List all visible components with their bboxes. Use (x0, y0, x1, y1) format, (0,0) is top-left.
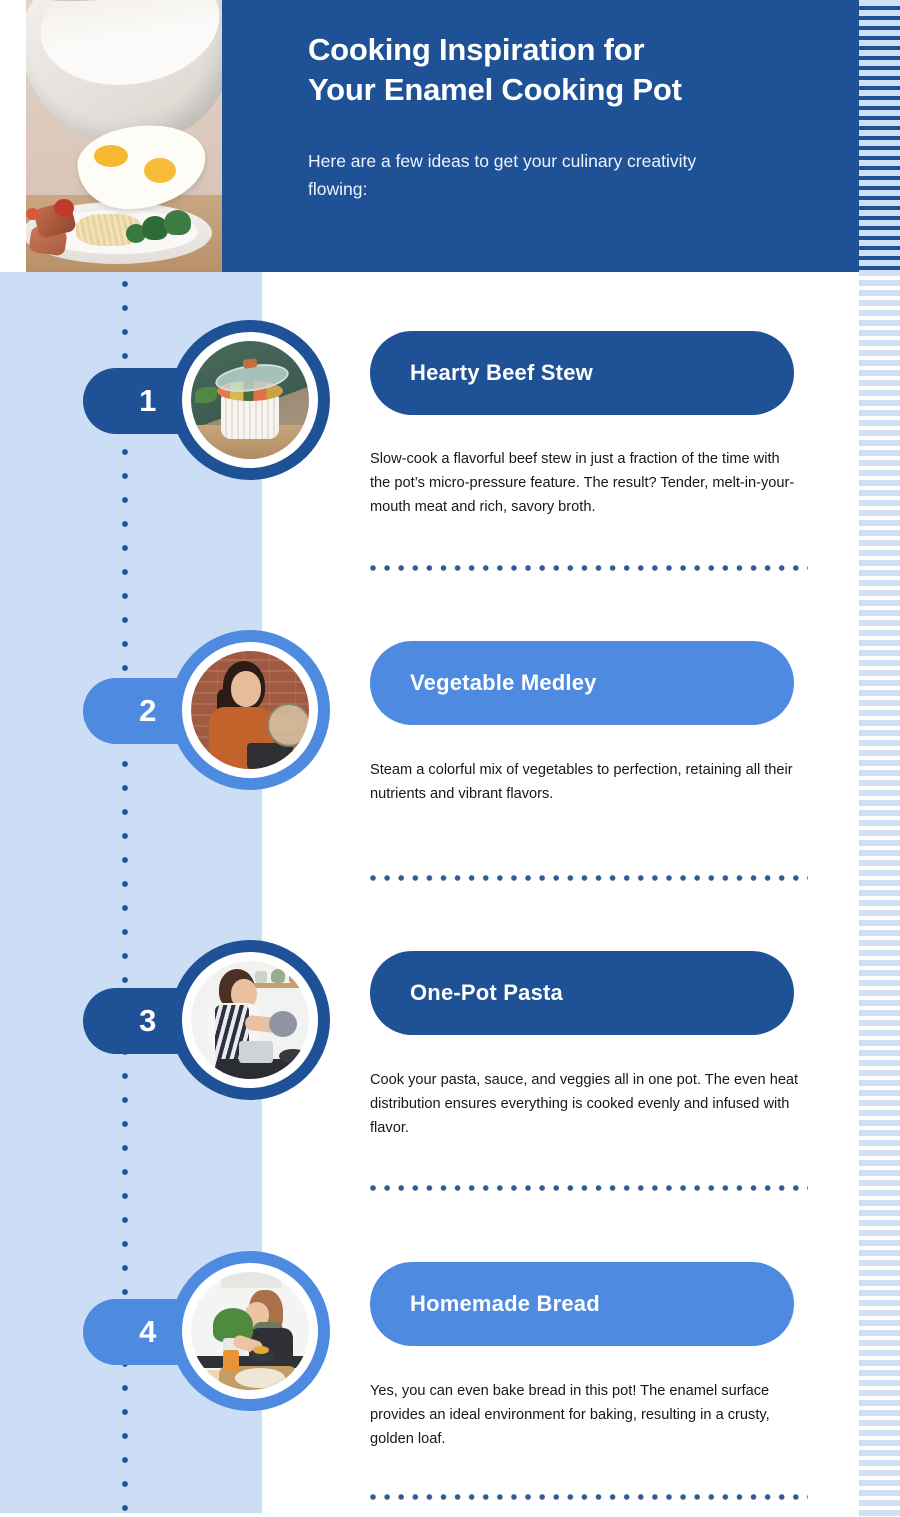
step-number-4: 4 (83, 1299, 213, 1365)
tomato-icon (54, 199, 74, 217)
recipe-title-pill-4[interactable]: Homemade Bread (370, 1262, 794, 1346)
egg-yolk-1 (94, 145, 128, 167)
broccoli-icon-2 (164, 210, 191, 235)
recipe-title-1: Hearty Beef Stew (410, 360, 593, 386)
infographic-page: Cooking Inspiration for Your Enamel Cook… (0, 0, 900, 1517)
recipe-title-3: One-Pot Pasta (410, 980, 563, 1006)
step-number-3: 3 (83, 988, 213, 1054)
recipe-title-4: Homemade Bread (410, 1291, 600, 1317)
step-number-2: 2 (83, 678, 213, 744)
stripe-gutter-dark (856, 0, 859, 272)
dotted-separator-3 (370, 1185, 808, 1191)
page-subtitle: Here are a few ideas to get your culinar… (308, 147, 748, 204)
egg-yolk-2 (144, 158, 176, 183)
page-title: Cooking Inspiration for Your Enamel Cook… (308, 30, 808, 109)
tomato-icon-2 (26, 208, 39, 220)
step-number-1: 1 (83, 368, 213, 434)
recipe-title-2: Vegetable Medley (410, 670, 597, 696)
right-stripe-decoration (856, 0, 900, 1517)
recipe-description-4: Yes, you can even bake bread in this pot… (370, 1380, 802, 1451)
recipe-description-2: Steam a colorful mix of vegetables to pe… (370, 759, 802, 807)
recipe-description-1: Slow-cook a flavorful beef stew in just … (370, 448, 802, 519)
recipe-title-pill-2[interactable]: Vegetable Medley (370, 641, 794, 725)
hero-photo (0, 0, 222, 272)
dotted-separator-2 (370, 875, 808, 881)
header-banner: Cooking Inspiration for Your Enamel Cook… (222, 0, 856, 272)
photo-left-edge (0, 0, 26, 272)
recipe-description-3: Cook your pasta, sauce, and veggies all … (370, 1069, 802, 1140)
dotted-separator-1 (370, 565, 808, 571)
recipe-title-pill-3[interactable]: One-Pot Pasta (370, 951, 794, 1035)
page-title-line-2: Your Enamel Cooking Pot (308, 70, 808, 110)
page-title-line-1: Cooking Inspiration for (308, 30, 808, 70)
recipe-title-pill-1[interactable]: Hearty Beef Stew (370, 331, 794, 415)
stripe-lines (859, 0, 900, 1517)
dotted-separator-4 (370, 1494, 808, 1500)
